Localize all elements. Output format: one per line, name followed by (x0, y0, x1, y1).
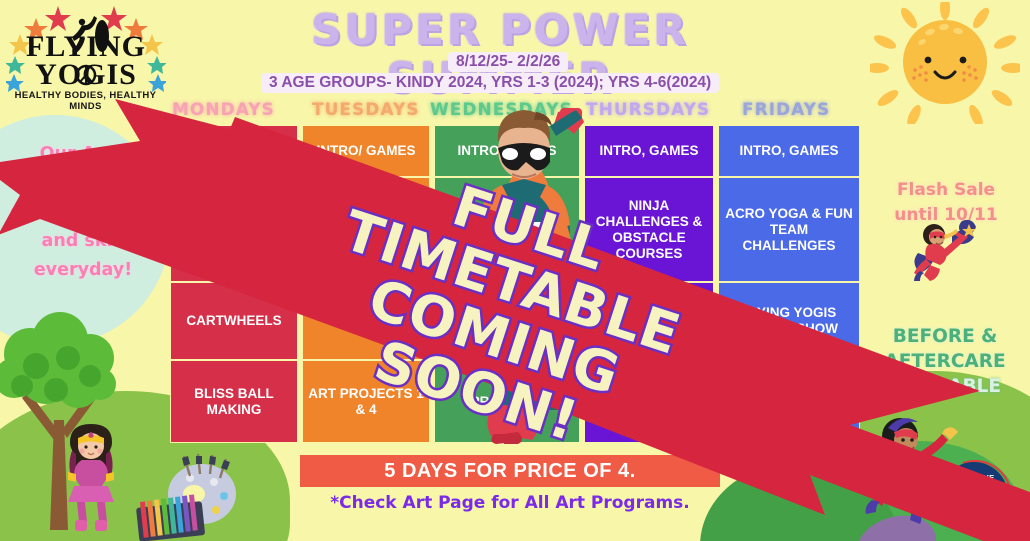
timetable-column-thursdays: INTRO, GAMESNINJA CHALLENGES & OBSTACLE … (584, 125, 714, 443)
beforecare-line-1: BEFORE & (862, 324, 1028, 349)
date-range: 8/12/25- 2/2/26 (448, 52, 568, 72)
beforecare-aftercare-note: BEFORE & AFTERCARE AVAILABLE (862, 324, 1028, 399)
logo-tagline: HEALTHY BODIES, HEALTHY MINDS (8, 90, 163, 112)
superhero-girl-icon (60, 420, 122, 532)
timetable-cell: ART PROJECTS 1 & 4 (302, 360, 430, 443)
day-header-tuesdays: TUESDAYS (312, 100, 419, 120)
timetable-cell: ACRO YOGA & FUN TEAM CHALLENGES (718, 177, 860, 282)
sun-icon (870, 2, 1020, 124)
timetable-cell (302, 282, 430, 360)
art-supplies-icon (132, 452, 244, 541)
creative-kids-badge[interactable]: CREATIVE KIDS REGISTERED PROVIDER Claim … (940, 462, 1008, 530)
price-banner: 5 DAYS FOR PRICE OF 4. (300, 455, 720, 487)
timetable-column-mondays: INTROPOWERCARTWHEELSBLISS BALL MAKING (170, 125, 298, 443)
timetable-cell: FLYING YOGIS TALENT SHOW (718, 282, 860, 360)
creative-kids-line-1: CREATIVE (953, 473, 994, 482)
beforecare-line-2: AFTERCARE (862, 349, 1028, 374)
timetable-cell (584, 360, 714, 443)
timetable-cell: BLISS BALL MAKING (170, 360, 298, 443)
superhero-man-icon (462, 104, 588, 444)
timetable-column-tuesdays: INTRO/ GAMESART PROJECTS 1 & 4 (302, 125, 430, 443)
creative-kids-line-4: Claim your $100 voucher here (950, 505, 998, 509)
timetable-column-fridays: INTRO, GAMESACRO YOGA & FUN TEAM CHALLEN… (718, 125, 860, 443)
beforecare-line-3: AVAILABLE (862, 374, 1028, 399)
acro-programs-note: Our Acro programs are divided by age and… (8, 140, 158, 285)
timetable-cell (302, 177, 430, 282)
flash-sale-line-1: Flash Sale (870, 178, 1022, 203)
flying-superhero-boy-icon (908, 215, 980, 281)
day-header-mondays: MONDAYS (172, 100, 275, 120)
day-header-fridays: FRIDAYS (742, 100, 830, 120)
flyer-canvas: FLYING YOGIS HEALTHY BODIES, HEALTHY MIN… (0, 0, 1030, 541)
timetable-cell: POWER (170, 177, 298, 282)
timetable-cell: CARTWHEELS (170, 282, 298, 360)
creative-kids-line-3: REGISTERED PROVIDER (947, 499, 1001, 504)
creative-kids-line-2: KIDS (956, 482, 991, 498)
day-header-thursdays: THURSDAYS (586, 100, 710, 120)
timetable-cell: INTRO/ GAMES (302, 125, 430, 177)
timetable-cell (584, 282, 714, 360)
timetable-cell: INTRO, GAMES (718, 125, 860, 177)
timetable-cell: NINJA CHALLENGES & OBSTACLE COURSES (584, 177, 714, 282)
art-page-note: *Check Art Page for All Art Programs. (300, 493, 720, 513)
timetable-cell: SOON (718, 360, 860, 443)
age-groups: 3 AGE GROUPS- KINDY 2024, YRS 1-3 (2024)… (261, 73, 719, 93)
timetable-cell: INTRO (170, 125, 298, 177)
creative-kids-nsw-logo: NSW (969, 512, 978, 519)
timetable-cell: INTRO, GAMES (584, 125, 714, 177)
